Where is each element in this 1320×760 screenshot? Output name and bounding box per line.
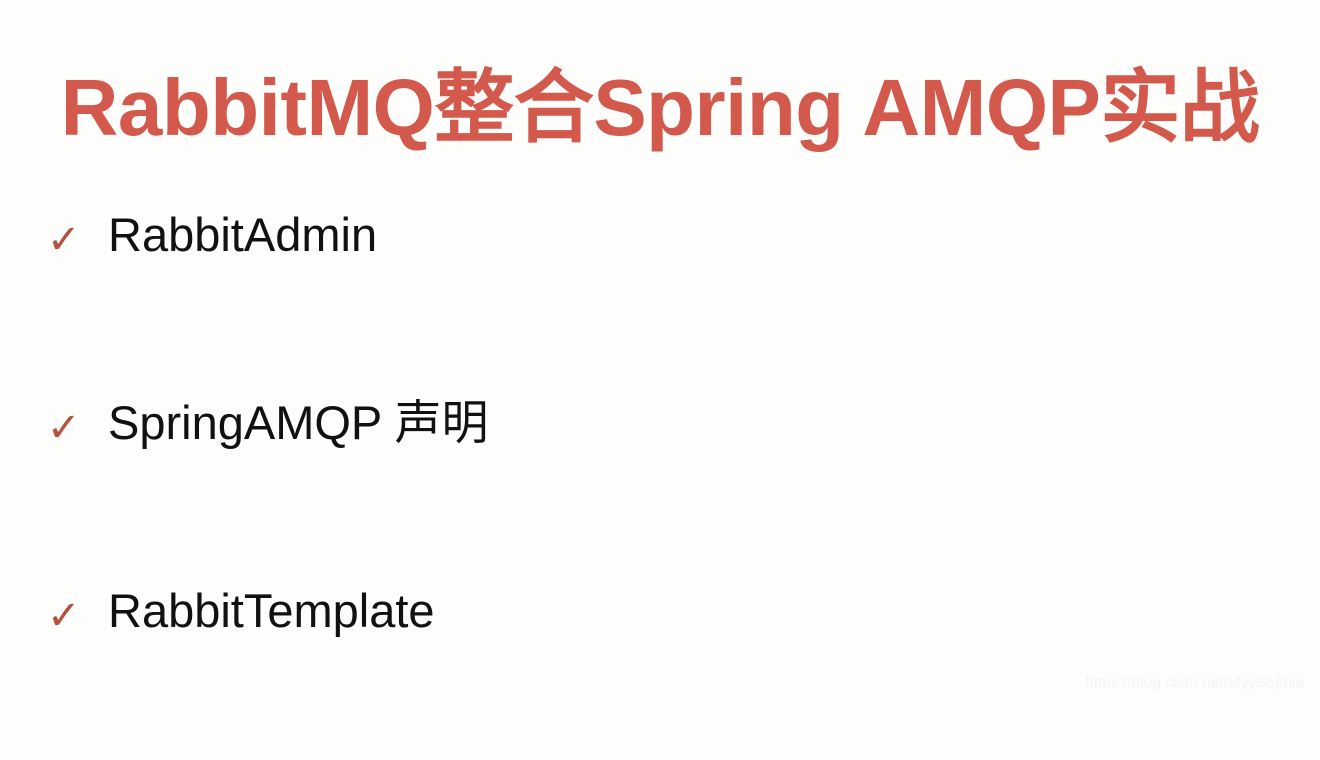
list-item: ✓ RabbitAdmin [0,196,1320,384]
bullet-row: ✓ RabbitTemplate [47,572,1320,653]
bullet-label: SpringAMQP 声明 [108,384,488,462]
bullet-label: RabbitAdmin [108,196,377,274]
page-title: RabbitMQ整合Spring AMQP实战 [0,58,1320,158]
check-icon: ✓ [47,389,85,467]
bullet-label: RabbitTemplate [108,572,435,650]
check-icon: ✓ [47,577,85,655]
bullet-row: ✓ RabbitAdmin [47,196,1320,277]
bullet-row: ✓ SpringAMQP 声明 [47,384,1320,465]
slide-canvas: RabbitMQ整合Spring AMQP实战 ✓ RabbitAdmin ✓ … [0,0,1320,701]
watermark: https://blog.csdn.net/MyySophia [1085,673,1304,693]
list-item: ✓ RabbitTemplate [0,572,1320,760]
list-item: ✓ SpringAMQP 声明 [0,384,1320,572]
check-icon: ✓ [47,201,85,279]
